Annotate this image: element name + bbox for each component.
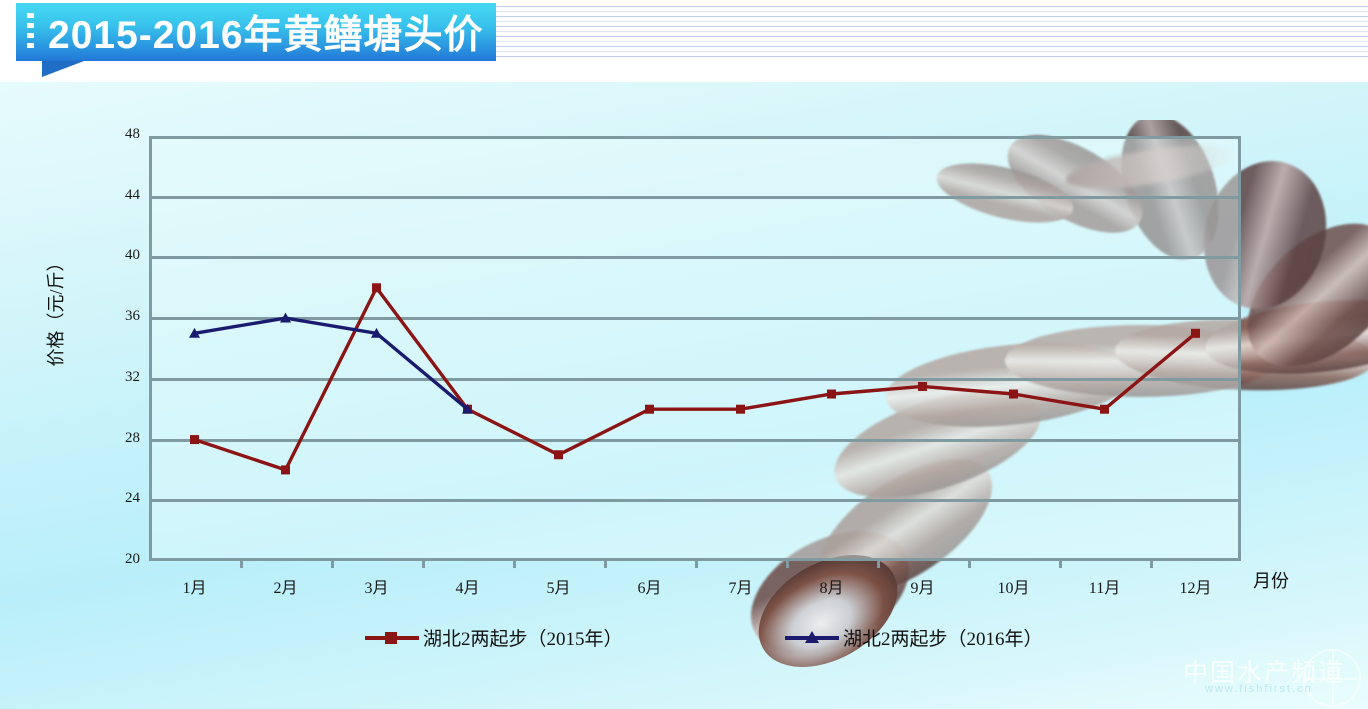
legend-color-swatch <box>785 636 839 640</box>
legend-color-swatch <box>365 636 419 640</box>
page-title: 2015-2016年黄鳝塘头价 <box>48 4 484 60</box>
watermark-url: www.fishfirst.cn <box>1205 683 1313 695</box>
header-stripe <box>495 31 1368 32</box>
chart-legend: 湖北2两起步（2015年）湖北2两起步（2016年） <box>0 616 1368 656</box>
title-banner: 2015-2016年黄鳝塘头价 <box>16 3 496 61</box>
dotted-accent-icon <box>27 13 34 53</box>
header-stripe <box>495 6 1368 7</box>
series-line <box>195 318 468 409</box>
watermark: 中国水产频道 www.fishfirst.cn <box>1175 645 1365 707</box>
header-stripe <box>495 46 1368 47</box>
header-stripe <box>495 41 1368 42</box>
legend-item[interactable]: 湖北2两起步（2016年） <box>785 624 1043 651</box>
legend-marker <box>805 631 819 643</box>
data-point-marker <box>1100 405 1109 414</box>
legend-marker <box>385 632 397 644</box>
header-stripe <box>495 16 1368 17</box>
banner-fold-decoration <box>42 61 84 77</box>
header-stripe <box>495 26 1368 27</box>
header-stripe <box>495 51 1368 52</box>
header-decorative-stripes <box>495 4 1368 64</box>
series-lines <box>0 82 1368 709</box>
data-point-marker <box>827 390 836 399</box>
data-point-marker <box>372 283 381 292</box>
legend-item[interactable]: 湖北2两起步（2015年） <box>365 624 623 651</box>
data-point-marker <box>918 382 927 391</box>
data-point-marker <box>190 435 199 444</box>
header-stripe <box>495 56 1368 57</box>
data-point-marker <box>554 450 563 459</box>
legend-label: 湖北2两起步（2016年） <box>843 624 1043 651</box>
series-line <box>195 288 1196 470</box>
header-stripe <box>495 21 1368 22</box>
data-point-marker <box>1191 329 1200 338</box>
price-line-chart: 4844403632282420 1月2月3月4月5月6月7月8月9月10月11… <box>0 82 1368 709</box>
data-point-marker <box>645 405 654 414</box>
data-point-marker <box>281 465 290 474</box>
data-point-marker <box>736 405 745 414</box>
header-stripe <box>495 36 1368 37</box>
legend-label: 湖北2两起步（2015年） <box>423 624 623 651</box>
header-stripe <box>495 11 1368 12</box>
data-point-marker <box>1009 390 1018 399</box>
